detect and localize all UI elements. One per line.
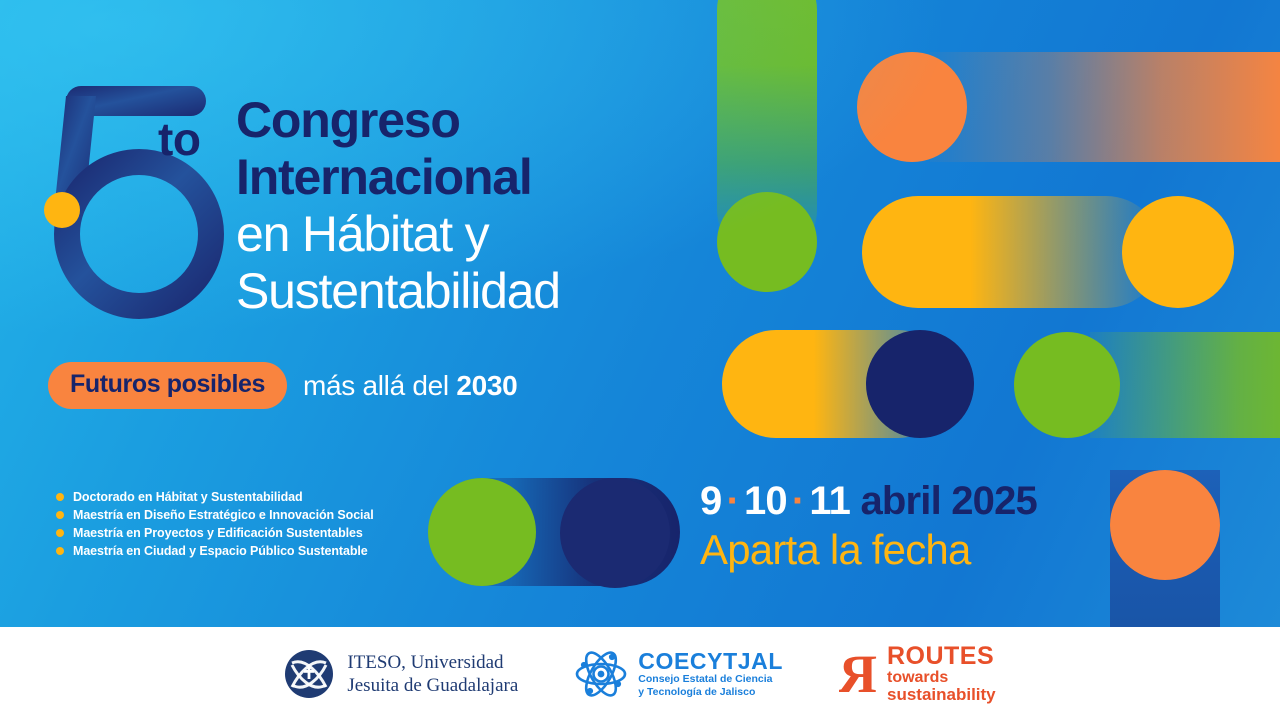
date-separator-icon: · [726,479,739,523]
program-label: Maestría en Diseño Estratégico e Innovac… [73,508,374,522]
tagline-highlight-badge: Futuros posibles [48,362,287,409]
date-day-1: 9 [700,479,721,523]
date-day-2: 10 [744,479,787,523]
title-line-sustentabilidad: Sustentabilidad [236,263,706,320]
decor-navy-circle-midleft [560,478,670,588]
decor-navy-circle-lower [866,330,974,438]
bullet-dot-icon [56,547,64,555]
routes-sub-line-2: sustainability [887,686,996,703]
coecytjal-name: COECYTJAL [638,649,783,673]
poster: to Congreso Internacional en Hábitat y S… [0,0,1280,720]
bullet-dot-icon [56,529,64,537]
program-label: Maestría en Proyectos y Edificación Sust… [73,526,363,540]
tagline-rest-prefix: más allá del [303,370,456,401]
list-item: Maestría en Diseño Estratégico e Innovac… [56,508,374,522]
title-line-en-habitat: en Hábitat y [236,206,706,263]
svg-text:R: R [839,648,877,700]
tagline: Futuros posibles más allá del 2030 [48,362,517,409]
title-line-internacional: Internacional [236,149,706,206]
event-date-block: 9·10·11 abril 2025 Aparta la fecha [700,478,1037,574]
program-label: Doctorado en Hábitat y Sustentabilidad [73,490,303,504]
edition-suffix: to [158,112,200,166]
routes-name: ROUTES [887,644,996,669]
date-day-3: 11 [809,479,850,523]
routes-wordmark: ROUTES towards sustainability [887,644,996,703]
atom-icon [574,648,628,700]
iteso-line-2: Jesuita de Guadalajara [347,674,518,697]
iteso-wordmark: ITESO, Universidad Jesuita de Guadalajar… [347,651,518,697]
bullet-dot-icon [56,493,64,501]
decor-green-circle-top [717,192,817,292]
logo-iteso: ITESO, Universidad Jesuita de Guadalajar… [284,649,518,699]
routes-sub-line-1: towards [887,669,996,686]
decor-green-circle-lower [1014,332,1120,438]
save-the-date-text: Aparta la fecha [700,526,1037,574]
tagline-rest: más allá del 2030 [303,370,517,402]
decor-yellow-circle-right [1122,196,1234,308]
decor-orange-circle-bottom [1110,470,1220,580]
list-item: Maestría en Ciudad y Espacio Público Sus… [56,544,374,558]
bullet-dot-icon [56,511,64,519]
title-line-congreso: Congreso [236,92,706,149]
footer-logo-bar: ITESO, Universidad Jesuita de Guadalajar… [0,627,1280,720]
list-item: Maestría en Proyectos y Edificación Sust… [56,526,374,540]
coecytjal-sub-line-2: y Tecnología de Jalisco [638,686,783,699]
poster-title: Congreso Internacional en Hábitat y Sust… [236,92,706,320]
date-separator-icon: · [792,479,805,523]
programs-list: Doctorado en Hábitat y Sustentabilidad M… [56,490,374,562]
date-month-year: abril 2025 [860,479,1037,523]
decor-orange-circle-top [857,52,967,162]
logo-routes: R ROUTES towards sustainability [839,644,996,703]
mirrored-r-icon: R [839,648,879,700]
list-item: Doctorado en Hábitat y Sustentabilidad [56,490,374,504]
program-label: Maestría en Ciudad y Espacio Público Sus… [73,544,368,558]
iteso-line-1: ITESO, Universidad [347,651,518,674]
logo-coecytjal: COECYTJAL Consejo Estatal de Ciencia y T… [574,648,783,700]
iteso-emblem-icon [284,649,334,699]
decor-yellow-pill-middle [862,196,1162,308]
coecytjal-wordmark: COECYTJAL Consejo Estatal de Ciencia y T… [638,649,783,699]
coecytjal-sub-line-1: Consejo Estatal de Ciencia [638,673,783,686]
decor-orange-bar-top [930,52,1280,162]
decor-green-circle-midleft [428,478,536,586]
tagline-rest-year: 2030 [456,370,517,401]
edition-number-logo [44,82,244,327]
event-date-line: 9·10·11 abril 2025 [700,478,1037,524]
